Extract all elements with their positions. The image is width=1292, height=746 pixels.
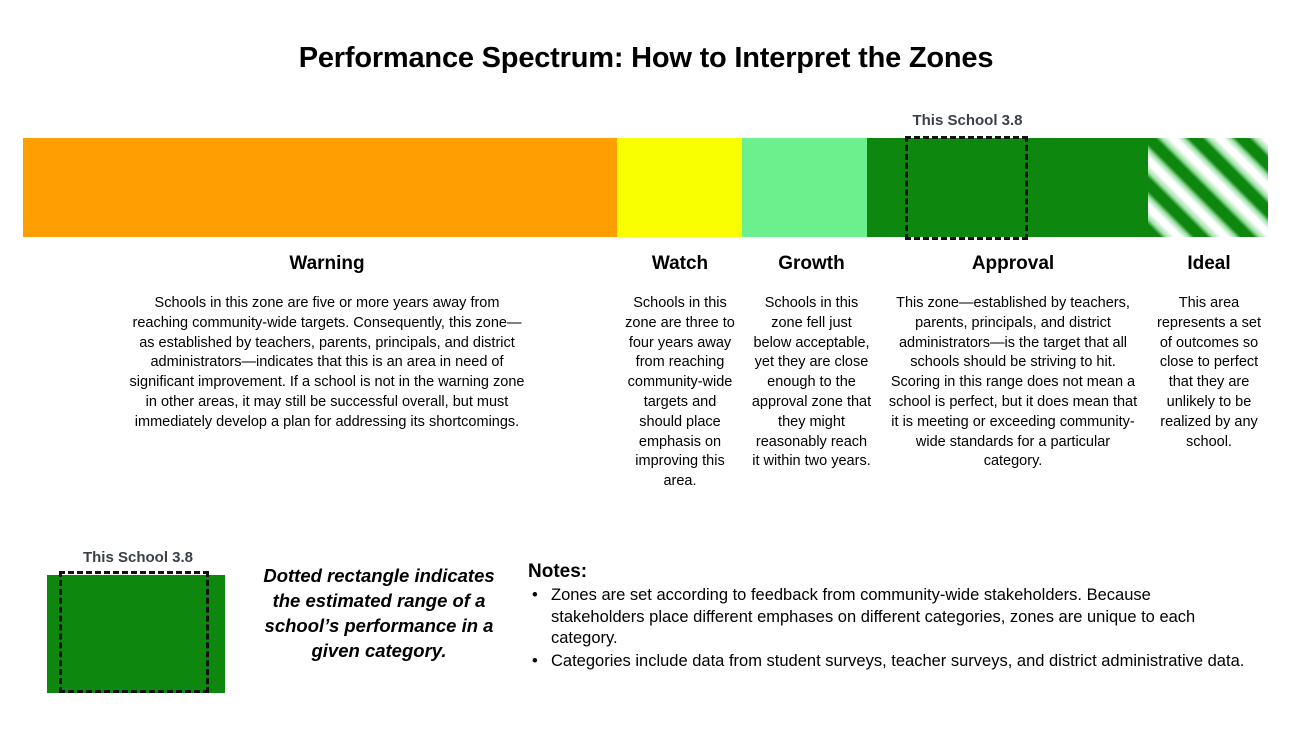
notes-list: • Zones are set according to feedback fr… (528, 585, 1248, 672)
this-school-range-marker (905, 136, 1028, 240)
zone-label-growth: Growth (751, 253, 872, 275)
notes-item-text: Categories include data from student sur… (551, 652, 1244, 670)
zone-column-ideal: Ideal This area represents a set of outc… (1155, 253, 1263, 452)
zone-label-watch: Watch (621, 253, 739, 275)
zone-segment-ideal (1148, 138, 1268, 237)
bullet-icon: • (532, 585, 538, 607)
bullet-icon: • (532, 651, 538, 673)
zone-label-approval: Approval (887, 253, 1139, 275)
notes-title: Notes: (528, 561, 1248, 583)
zone-description-growth: Schools in this zone fell just below acc… (751, 294, 872, 472)
zone-segment-warning (23, 138, 617, 237)
zone-label-ideal: Ideal (1155, 253, 1263, 275)
this-school-marker-label: This School 3.8 (895, 112, 1040, 129)
legend-dashed-rectangle (59, 571, 209, 693)
zone-column-warning: Warning Schools in this zone are five or… (127, 253, 527, 433)
zone-column-growth: Growth Schools in this zone fell just be… (751, 253, 872, 472)
zone-description-warning: Schools in this zone are five or more ye… (127, 294, 527, 433)
notes-item-text: Zones are set according to feedback from… (551, 586, 1195, 647)
notes-section: Notes: • Zones are set according to feed… (528, 561, 1248, 673)
zone-description-approval: This zone—established by teachers, paren… (887, 294, 1139, 472)
zone-description-ideal: This area represents a set of outcomes s… (1155, 294, 1263, 452)
zone-segment-watch (617, 138, 742, 237)
notes-list-item: • Categories include data from student s… (528, 651, 1248, 673)
zone-segment-growth (742, 138, 867, 237)
zone-column-watch: Watch Schools in this zone are three to … (621, 253, 739, 492)
legend-marker-label: This School 3.8 (58, 549, 218, 566)
zone-column-approval: Approval This zone—established by teache… (887, 253, 1139, 472)
zone-label-warning: Warning (127, 253, 527, 275)
performance-spectrum-bar (23, 138, 1268, 237)
page-title: Performance Spectrum: How to Interpret t… (0, 42, 1292, 75)
zone-description-watch: Schools in this zone are three to four y… (621, 294, 739, 492)
notes-list-item: • Zones are set according to feedback fr… (528, 585, 1248, 650)
legend-caption: Dotted rectangle indicates the estimated… (258, 563, 500, 663)
